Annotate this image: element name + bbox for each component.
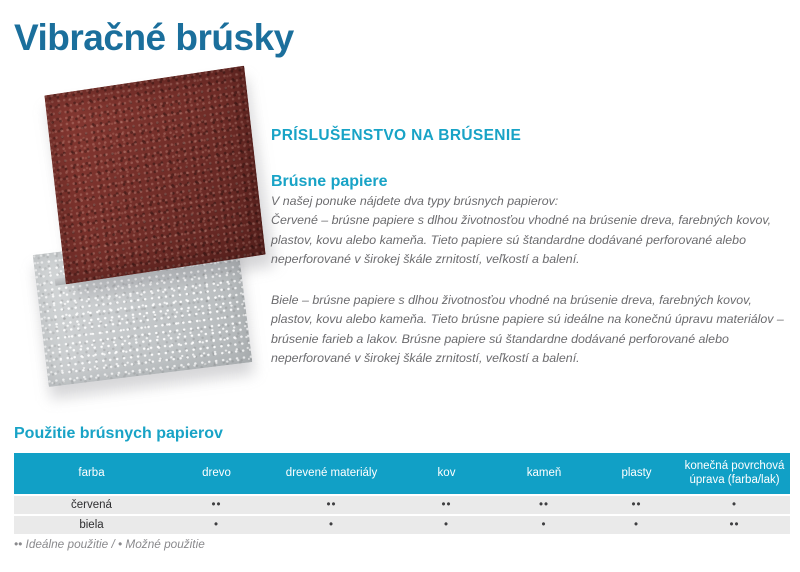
usage-table-body: červená •• •• •• •• •• • biela • • • • •… bbox=[14, 495, 790, 535]
usage-table: farba drevo drevené materiály kov kameň … bbox=[14, 453, 790, 536]
accessories-paragraph-1-line-2: Červené – brúsne papiere s dlhou životno… bbox=[271, 213, 771, 266]
column-header-kov: kov bbox=[399, 453, 494, 495]
cell-biela-kamen: • bbox=[494, 515, 594, 535]
column-header-plasty: plasty bbox=[594, 453, 679, 495]
table-row: biela • • • • • •• bbox=[14, 515, 790, 535]
cell-cervena-kamen: •• bbox=[494, 495, 594, 515]
cell-cervena-konecna-uprava: • bbox=[679, 495, 790, 515]
cell-cervena-plasty: •• bbox=[594, 495, 679, 515]
cell-cervena-kov: •• bbox=[399, 495, 494, 515]
cell-biela-drevene-materialy: • bbox=[264, 515, 399, 535]
usage-table-header-row: farba drevo drevené materiály kov kameň … bbox=[14, 453, 790, 495]
column-header-konecna-povrchova-uprava: konečná povrchová úprava (farba/lak) bbox=[679, 453, 790, 495]
cell-color-biela: biela bbox=[14, 515, 169, 535]
cell-biela-konecna-uprava: •• bbox=[679, 515, 790, 535]
cell-color-cervena: červená bbox=[14, 495, 169, 515]
cell-biela-plasty: • bbox=[594, 515, 679, 535]
accessories-subheading: Brúsne papiere bbox=[271, 173, 387, 191]
page-title: Vibračné brúsky bbox=[14, 16, 294, 60]
usage-table-heading: Použitie brúsnych papierov bbox=[14, 425, 223, 443]
column-header-drevo: drevo bbox=[169, 453, 264, 495]
accessories-paragraph-1-line-1: V našej ponuke nájdete dva typy brúsnych… bbox=[271, 192, 789, 211]
cell-biela-drevo: • bbox=[169, 515, 264, 535]
page-root: { "page": { "title": "Vibračné brúsky", … bbox=[0, 0, 800, 572]
red-abrasive-paper-sheet bbox=[44, 66, 265, 285]
cell-cervena-drevo: •• bbox=[169, 495, 264, 515]
accessories-paragraph-1: V našej ponuke nájdete dva typy brúsnych… bbox=[271, 192, 789, 269]
column-header-farba: farba bbox=[14, 453, 169, 495]
accessories-paragraph-2: Biele – brúsne papiere s dlhou životnosť… bbox=[271, 291, 789, 368]
cell-biela-kov: • bbox=[399, 515, 494, 535]
accessories-heading: PRÍSLUŠENSTVO NA BRÚSENIE bbox=[271, 127, 521, 145]
product-photo bbox=[18, 62, 268, 392]
usage-legend: •• Ideálne použitie / • Možné použitie bbox=[14, 537, 205, 551]
cell-cervena-drevene-materialy: •• bbox=[264, 495, 399, 515]
usage-table-head: farba drevo drevené materiály kov kameň … bbox=[14, 453, 790, 495]
column-header-kamen: kameň bbox=[494, 453, 594, 495]
table-row: červená •• •• •• •• •• • bbox=[14, 495, 790, 515]
column-header-drevene-materialy: drevené materiály bbox=[264, 453, 399, 495]
